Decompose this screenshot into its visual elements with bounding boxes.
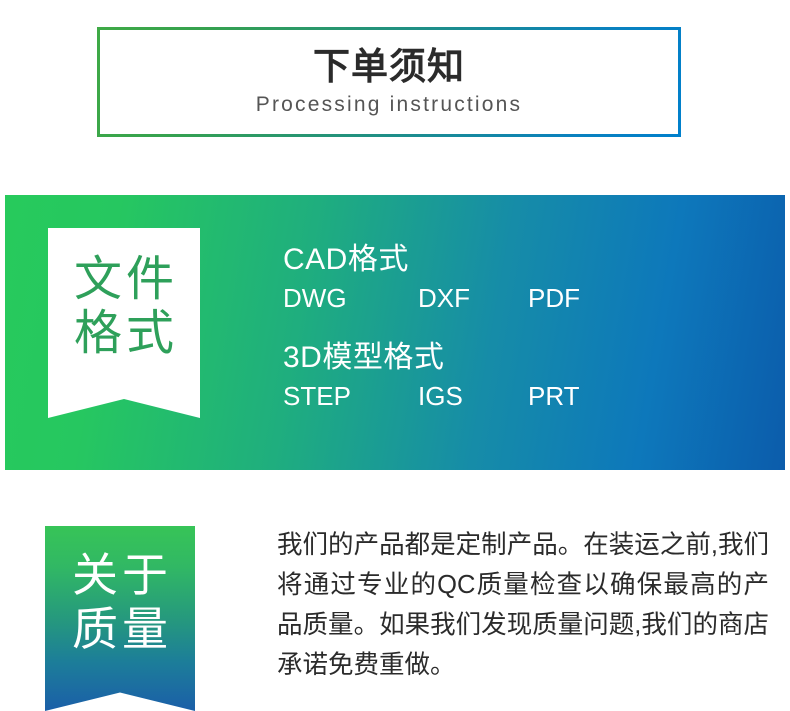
- file-format-ribbon-line-1: 文件: [70, 256, 178, 304]
- cad-format-heading: CAD格式: [283, 243, 753, 278]
- cad-format-item-dxf: DXF: [418, 284, 528, 314]
- quality-ribbon-line-2: 质量: [68, 606, 172, 652]
- file-format-ribbon-line-2: 格式: [70, 310, 178, 358]
- file-format-text-block: CAD格式 DWG DXF PDF 3D模型格式 STEP IGS PRT: [283, 243, 753, 412]
- page-title-box: 下单须知 Processing instructions: [97, 27, 681, 137]
- cad-format-group: CAD格式 DWG DXF PDF: [283, 243, 753, 313]
- model-format-heading: 3D模型格式: [283, 341, 753, 376]
- model-format-item-prt: PRT: [528, 382, 580, 412]
- model-format-item-step: STEP: [283, 382, 418, 412]
- model-format-items: STEP IGS PRT: [283, 382, 753, 412]
- file-format-ribbon: 文件 格式: [48, 228, 200, 418]
- quality-ribbon-line-1: 关于: [68, 552, 172, 598]
- model-format-group: 3D模型格式 STEP IGS PRT: [283, 341, 753, 411]
- cad-format-items: DWG DXF PDF: [283, 284, 753, 314]
- page-title-cn: 下单须知: [313, 47, 465, 87]
- cad-format-item-pdf: PDF: [528, 284, 580, 314]
- model-format-item-igs: IGS: [418, 382, 528, 412]
- cad-format-item-dwg: DWG: [283, 284, 418, 314]
- quality-description: 我们的产品都是定制产品。在装运之前,我们将通过专业的QC质量检查以确保最高的产品…: [277, 525, 769, 685]
- quality-ribbon: 关于 质量: [45, 526, 195, 711]
- page-title-en: Processing instructions: [256, 93, 523, 116]
